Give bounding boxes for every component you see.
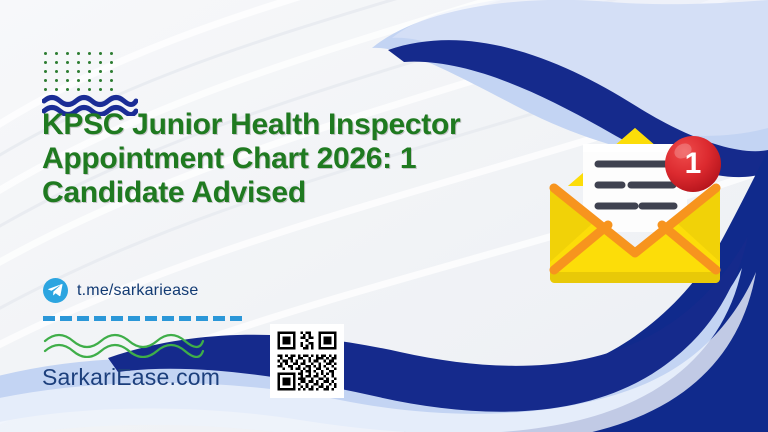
- page-title: KPSC Junior Health Inspector Appointment…: [42, 108, 512, 210]
- website-label: SarkariEase.com: [42, 364, 220, 391]
- telegram-link[interactable]: t.me/sarkariease: [43, 278, 198, 303]
- qr-code-icon[interactable]: [270, 324, 344, 398]
- badge-count: 1: [669, 140, 717, 188]
- dot-grid-icon: [44, 52, 116, 92]
- dashed-divider: [43, 316, 248, 321]
- telegram-handle: t.me/sarkariease: [77, 282, 198, 300]
- banner-image: KPSC Junior Health Inspector Appointment…: [0, 0, 768, 432]
- green-wave-icon: [42, 332, 206, 358]
- telegram-icon: [43, 278, 68, 303]
